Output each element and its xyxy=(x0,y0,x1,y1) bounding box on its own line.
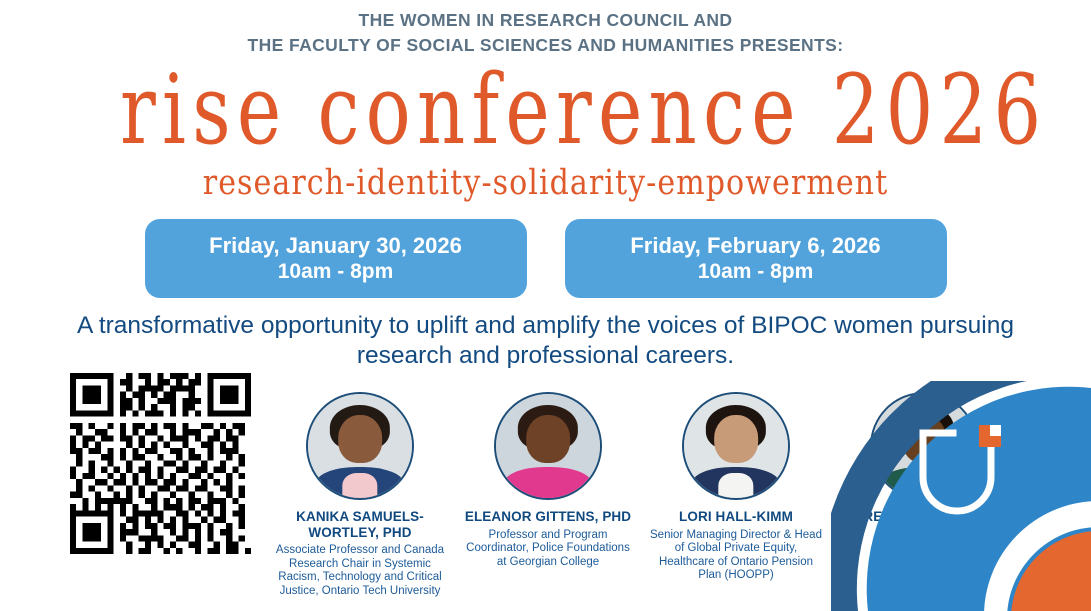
avatar-face xyxy=(714,415,758,463)
avatar-face xyxy=(526,415,570,463)
eyebrow-header: THE WOMEN IN RESEARCH COUNCIL AND THE FA… xyxy=(0,8,1091,58)
speaker-name: KARENE PAUL-NISBETT xyxy=(836,509,1012,525)
qr-code[interactable] xyxy=(70,373,251,554)
date-box-2-time: 10am - 8pm xyxy=(698,259,814,285)
date-box-1[interactable]: Friday, January 30, 2026 10am - 8pm xyxy=(145,219,527,298)
speaker-role: Associate Professor and Canada Research … xyxy=(272,544,448,598)
avatar xyxy=(306,392,414,500)
avatar xyxy=(682,392,790,500)
title-block: rise conference 2026 research-identity-s… xyxy=(0,62,1091,202)
title-tagline: research-identity-solidarity-empowerment xyxy=(76,164,1014,202)
speaker-role: Attorney-at-Law xyxy=(836,529,1012,543)
avatar-face xyxy=(338,415,382,463)
date-box-1-time: 10am - 8pm xyxy=(278,259,394,285)
avatar-shirt xyxy=(906,473,941,500)
eyebrow-line-1: THE WOMEN IN RESEARCH COUNCIL AND xyxy=(0,8,1091,33)
speaker-card: KARENE PAUL-NISBETT Attorney-at-Law xyxy=(836,392,1012,542)
avatar-shirt xyxy=(342,473,377,500)
date-box-1-date: Friday, January 30, 2026 xyxy=(209,232,462,259)
page-title: rise conference 2026 xyxy=(120,62,971,158)
avatar xyxy=(494,392,602,500)
speaker-role: Professor and Program Coordinator, Polic… xyxy=(460,529,636,570)
avatar xyxy=(870,392,978,500)
date-box-2[interactable]: Friday, February 6, 2026 10am - 8pm xyxy=(565,219,947,298)
event-description: A transformative opportunity to uplift a… xyxy=(50,311,1041,371)
date-boxes: Friday, January 30, 2026 10am - 8pm Frid… xyxy=(0,219,1091,298)
speaker-list: KANIKA SAMUELS-WORTLEY, PHD Associate Pr… xyxy=(272,392,1012,598)
speaker-name: KANIKA SAMUELS-WORTLEY, PHD xyxy=(272,509,448,540)
speaker-role: Senior Managing Director & Head of Globa… xyxy=(648,529,824,583)
speaker-name: ELEANOR GITTENS, PHD xyxy=(460,509,636,525)
conference-poster: THE WOMEN IN RESEARCH COUNCIL AND THE FA… xyxy=(0,0,1091,611)
speaker-card: LORI HALL-KIMM Senior Managing Director … xyxy=(648,392,824,583)
avatar-face xyxy=(902,415,946,463)
date-box-2-date: Friday, February 6, 2026 xyxy=(630,232,880,259)
avatar-shirt xyxy=(718,473,753,500)
avatar-shirt xyxy=(530,473,565,500)
speaker-name: LORI HALL-KIMM xyxy=(648,509,824,525)
speaker-card: KANIKA SAMUELS-WORTLEY, PHD Associate Pr… xyxy=(272,392,448,598)
speaker-card: ELEANOR GITTENS, PHD Professor and Progr… xyxy=(460,392,636,569)
